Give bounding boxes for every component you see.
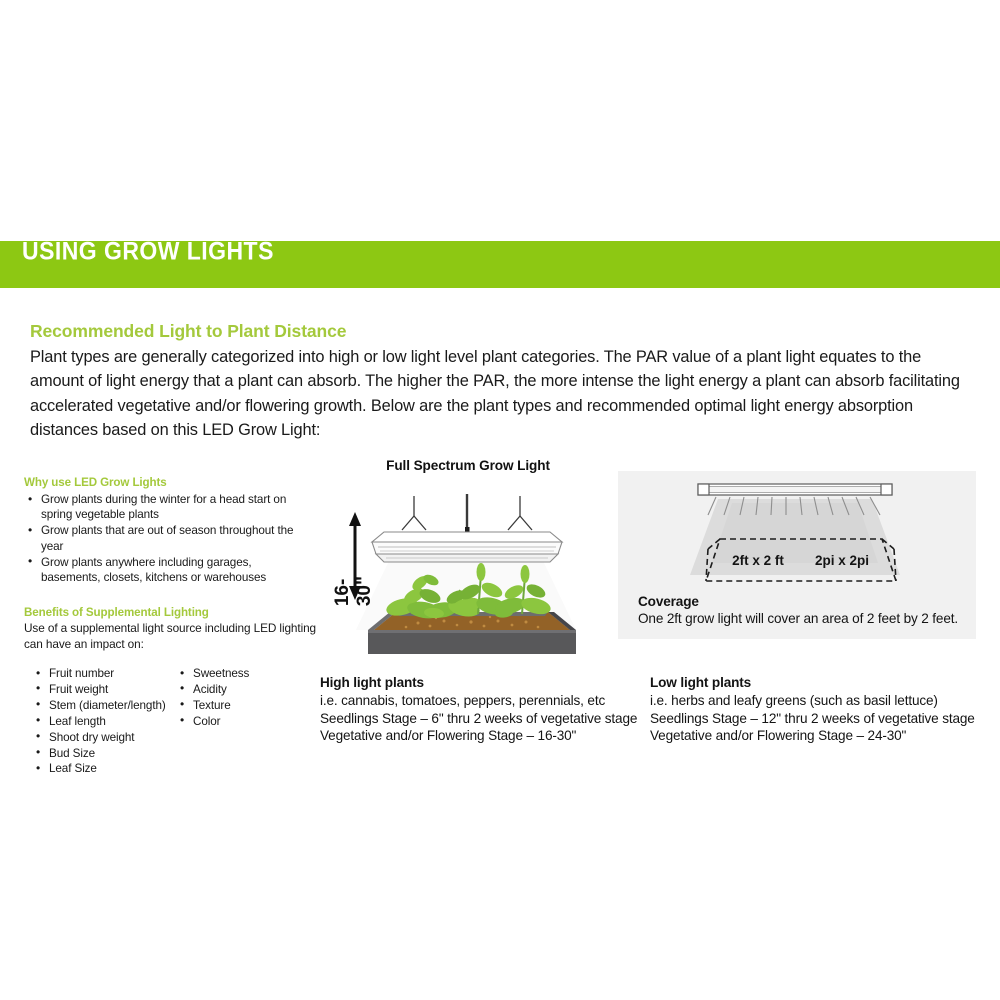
list-item: Sweetness xyxy=(176,666,316,681)
low-light-line-3: Vegetative and/or Flowering Stage – 24-3… xyxy=(650,728,906,743)
main-content: Recommended Light to Plant Distance Plan… xyxy=(0,288,1000,808)
high-light-line-1: i.e. cannabis, tomatoes, peppers, perenn… xyxy=(320,693,605,708)
planter-box-icon xyxy=(368,612,576,654)
list-item: Texture xyxy=(176,698,316,713)
center-hanger-clip-icon xyxy=(465,527,470,532)
list-item: Leaf Size xyxy=(32,761,202,776)
list-item: Grow plants anywhere including garages, … xyxy=(24,555,314,586)
coverage-description: One 2ft grow light will cover an area of… xyxy=(638,611,958,626)
intro-paragraph: Plant types are generally categorized in… xyxy=(30,345,972,442)
benefits-lists: Fruit number Fruit weight Stem (diameter… xyxy=(24,666,324,778)
coverage-label-right: 2pi x 2pi xyxy=(815,553,869,568)
intro-heading: Recommended Light to Plant Distance xyxy=(30,321,346,342)
low-light-line-2: Seedlings Stage – 12" thru 2 weeks of ve… xyxy=(650,711,975,726)
list-item: Grow plants that are out of season throu… xyxy=(24,523,314,554)
coverage-illustration: 2ft x 2 ft 2pi x 2pi xyxy=(670,477,920,595)
grow-light-figure-title: Full Spectrum Grow Light xyxy=(318,458,618,473)
benefits-list-right: Sweetness Acidity Texture Color xyxy=(176,666,316,730)
low-light-plants-title: Low light plants xyxy=(650,674,990,692)
benefits-lead-text: Use of a supplemental light source inclu… xyxy=(24,621,324,652)
list-item: Shoot dry weight xyxy=(32,730,202,745)
list-item: Color xyxy=(176,714,316,729)
page-header-banner: USING GROW LIGHTS xyxy=(0,241,1000,288)
distance-label: 16-30" xyxy=(332,576,376,606)
high-light-plants-title: High light plants xyxy=(320,674,640,692)
coverage-panel: 2ft x 2 ft 2pi x 2pi Coverage One 2ft gr… xyxy=(618,471,976,639)
low-light-plants-block: Low light plants i.e. herbs and leafy gr… xyxy=(650,674,990,745)
coverage-label-left: 2ft x 2 ft xyxy=(732,553,784,568)
why-use-led-section: Why use LED Grow Lights Grow plants duri… xyxy=(24,476,314,586)
why-use-led-list: Grow plants during the winter for a head… xyxy=(24,492,314,585)
list-item: Bud Size xyxy=(32,746,202,761)
high-light-line-3: Vegetative and/or Flowering Stage – 16-3… xyxy=(320,728,576,743)
light-bar-icon xyxy=(698,484,892,495)
list-item: Grow plants during the winter for a head… xyxy=(24,492,314,523)
list-item: Acidity xyxy=(176,682,316,697)
coverage-title: Coverage xyxy=(638,593,968,610)
coverage-text-block: Coverage One 2ft grow light will cover a… xyxy=(638,593,968,628)
low-light-line-1: i.e. herbs and leafy greens (such as bas… xyxy=(650,693,938,708)
led-fixture-icon xyxy=(372,532,562,562)
high-light-line-2: Seedlings Stage – 6" thru 2 weeks of veg… xyxy=(320,711,637,726)
grow-light-illustration xyxy=(326,480,616,658)
why-use-led-heading: Why use LED Grow Lights xyxy=(24,476,314,489)
benefits-heading: Benefits of Supplemental Lighting xyxy=(24,606,324,619)
high-light-plants-block: High light plants i.e. cannabis, tomatoe… xyxy=(320,674,640,745)
benefits-section: Benefits of Supplemental Lighting Use of… xyxy=(24,606,324,778)
page-title: USING GROW LIGHTS xyxy=(22,237,274,266)
